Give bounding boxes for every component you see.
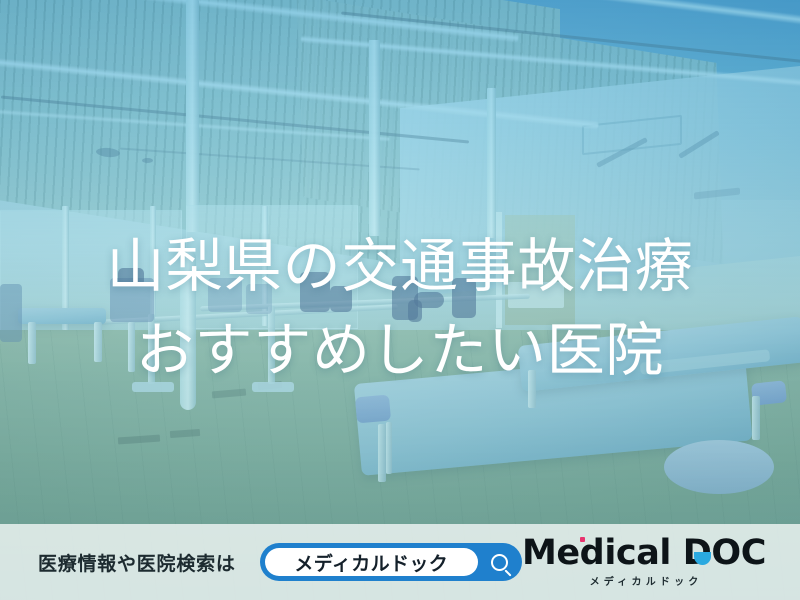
brand-i-dot-icon [580, 537, 585, 542]
search-input[interactable]: メディカルドック [265, 548, 478, 576]
headline-line-1: 山梨県の交通事故治療 [0, 224, 800, 308]
brand-name-wrap: Medical DOC [522, 536, 766, 571]
brand-name: Medical DOC [522, 533, 766, 573]
footer-bar: 医療情報や医院検索は メディカルドック Medical DOC メディカルドック [0, 524, 800, 600]
search-input-value: メディカルドック [294, 549, 448, 576]
search-icon [491, 554, 508, 571]
page-title: 山梨県の交通事故治療 おすすめしたい医院 [0, 224, 800, 392]
brand-reading: メディカルドック [522, 578, 766, 588]
search-button[interactable] [478, 543, 522, 581]
headline-line-2: おすすめしたい医院 [0, 308, 800, 392]
search-bar[interactable]: メディカルドック [260, 543, 522, 581]
footer-lead-text: 医療情報や医院検索は [38, 549, 236, 576]
brand-logo: Medical DOC メディカルドック [522, 536, 766, 588]
hero-banner: 山梨県の交通事故治療 おすすめしたい医院 医療情報や医院検索は メディカルドック… [0, 0, 800, 600]
